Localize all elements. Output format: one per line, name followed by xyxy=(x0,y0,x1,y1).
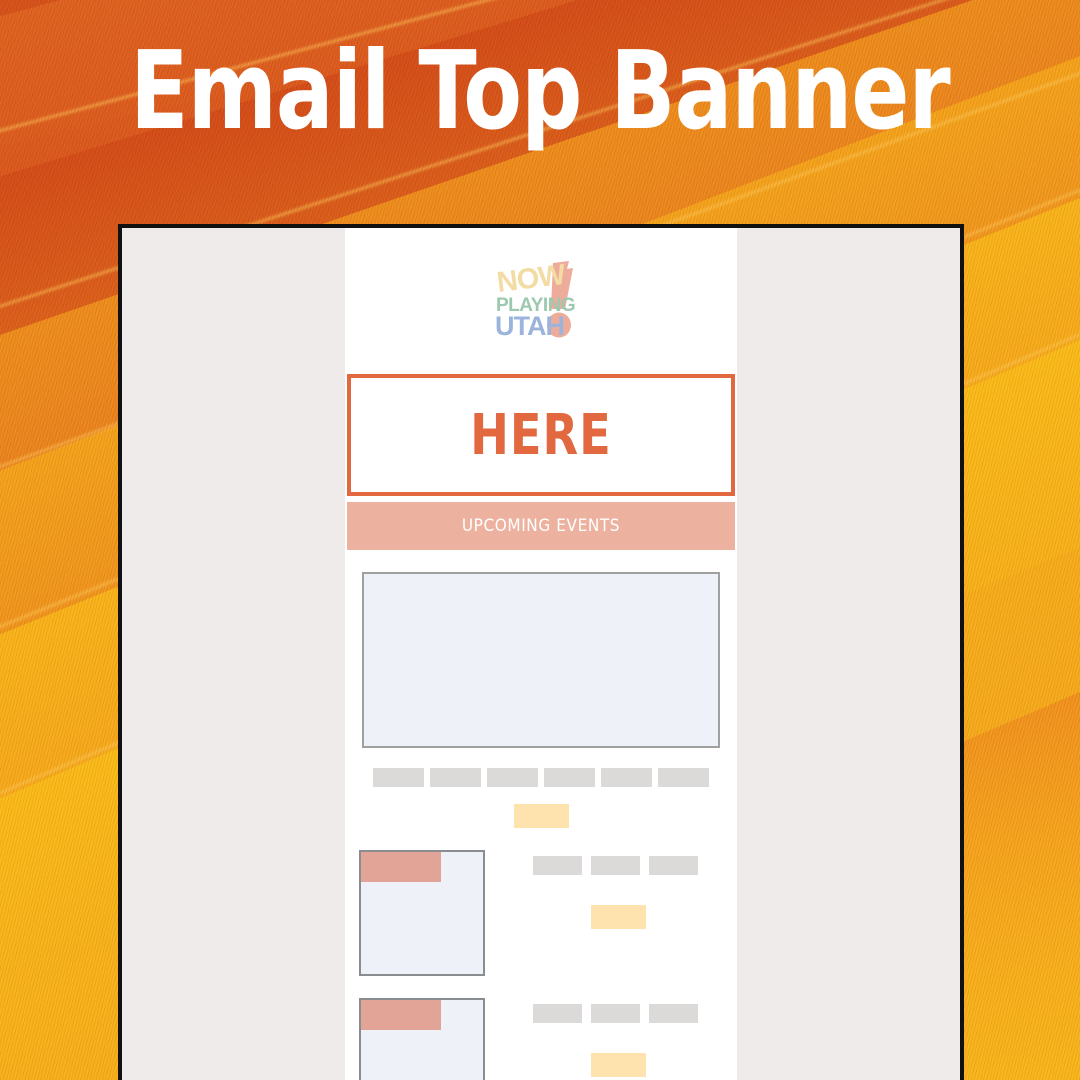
email-body-column: NOW PLAYING UTAH HERE xyxy=(345,228,737,1080)
now-playing-utah-logo: NOW PLAYING UTAH xyxy=(493,259,589,343)
event-meta xyxy=(485,998,737,1080)
headline-bar xyxy=(658,768,709,787)
upcoming-events-label: UPCOMING EVENTS xyxy=(462,516,620,536)
event-list-item[interactable] xyxy=(345,850,737,976)
headline-bar xyxy=(544,768,595,787)
cta-chip-placeholder[interactable] xyxy=(514,804,569,828)
here-cta-label: HERE xyxy=(470,403,612,468)
headline-bar xyxy=(601,768,652,787)
upcoming-events-bar: UPCOMING EVENTS xyxy=(347,502,735,550)
event-button-placeholder[interactable] xyxy=(591,905,646,929)
headline-bar xyxy=(487,768,538,787)
headline-bar xyxy=(373,768,424,787)
event-meta xyxy=(485,850,737,976)
email-header: NOW PLAYING UTAH xyxy=(345,228,737,374)
cta-chip-row xyxy=(345,804,737,828)
event-button-row xyxy=(533,1053,737,1077)
headline-bar-row xyxy=(345,768,737,787)
headline-bar xyxy=(430,768,481,787)
svg-text:UTAH: UTAH xyxy=(495,311,564,341)
event-text-bar xyxy=(533,856,582,875)
event-text-bar xyxy=(591,1004,640,1023)
event-thumbnail-band xyxy=(361,852,441,882)
page-title: Email Top Banner xyxy=(65,38,1015,146)
event-text-bar xyxy=(591,856,640,875)
event-text-bar-row xyxy=(533,856,737,875)
event-text-bar-row xyxy=(533,1004,737,1023)
gutter-left xyxy=(122,228,345,1080)
email-mockup-frame: NOW PLAYING UTAH HERE xyxy=(118,224,964,1080)
event-button-row xyxy=(533,905,737,929)
event-thumbnail xyxy=(359,998,485,1080)
gutter-right xyxy=(737,228,960,1080)
poster-canvas: Email Top Banner NOW xyxy=(0,0,1080,1080)
event-text-bar xyxy=(533,1004,582,1023)
event-text-bar xyxy=(649,1004,698,1023)
event-list-item[interactable] xyxy=(345,998,737,1080)
event-button-placeholder[interactable] xyxy=(591,1053,646,1077)
hero-image-placeholder xyxy=(362,572,720,748)
event-thumbnail-band xyxy=(361,1000,441,1030)
here-cta-button[interactable]: HERE xyxy=(347,374,735,496)
event-text-bar xyxy=(649,856,698,875)
event-thumbnail xyxy=(359,850,485,976)
